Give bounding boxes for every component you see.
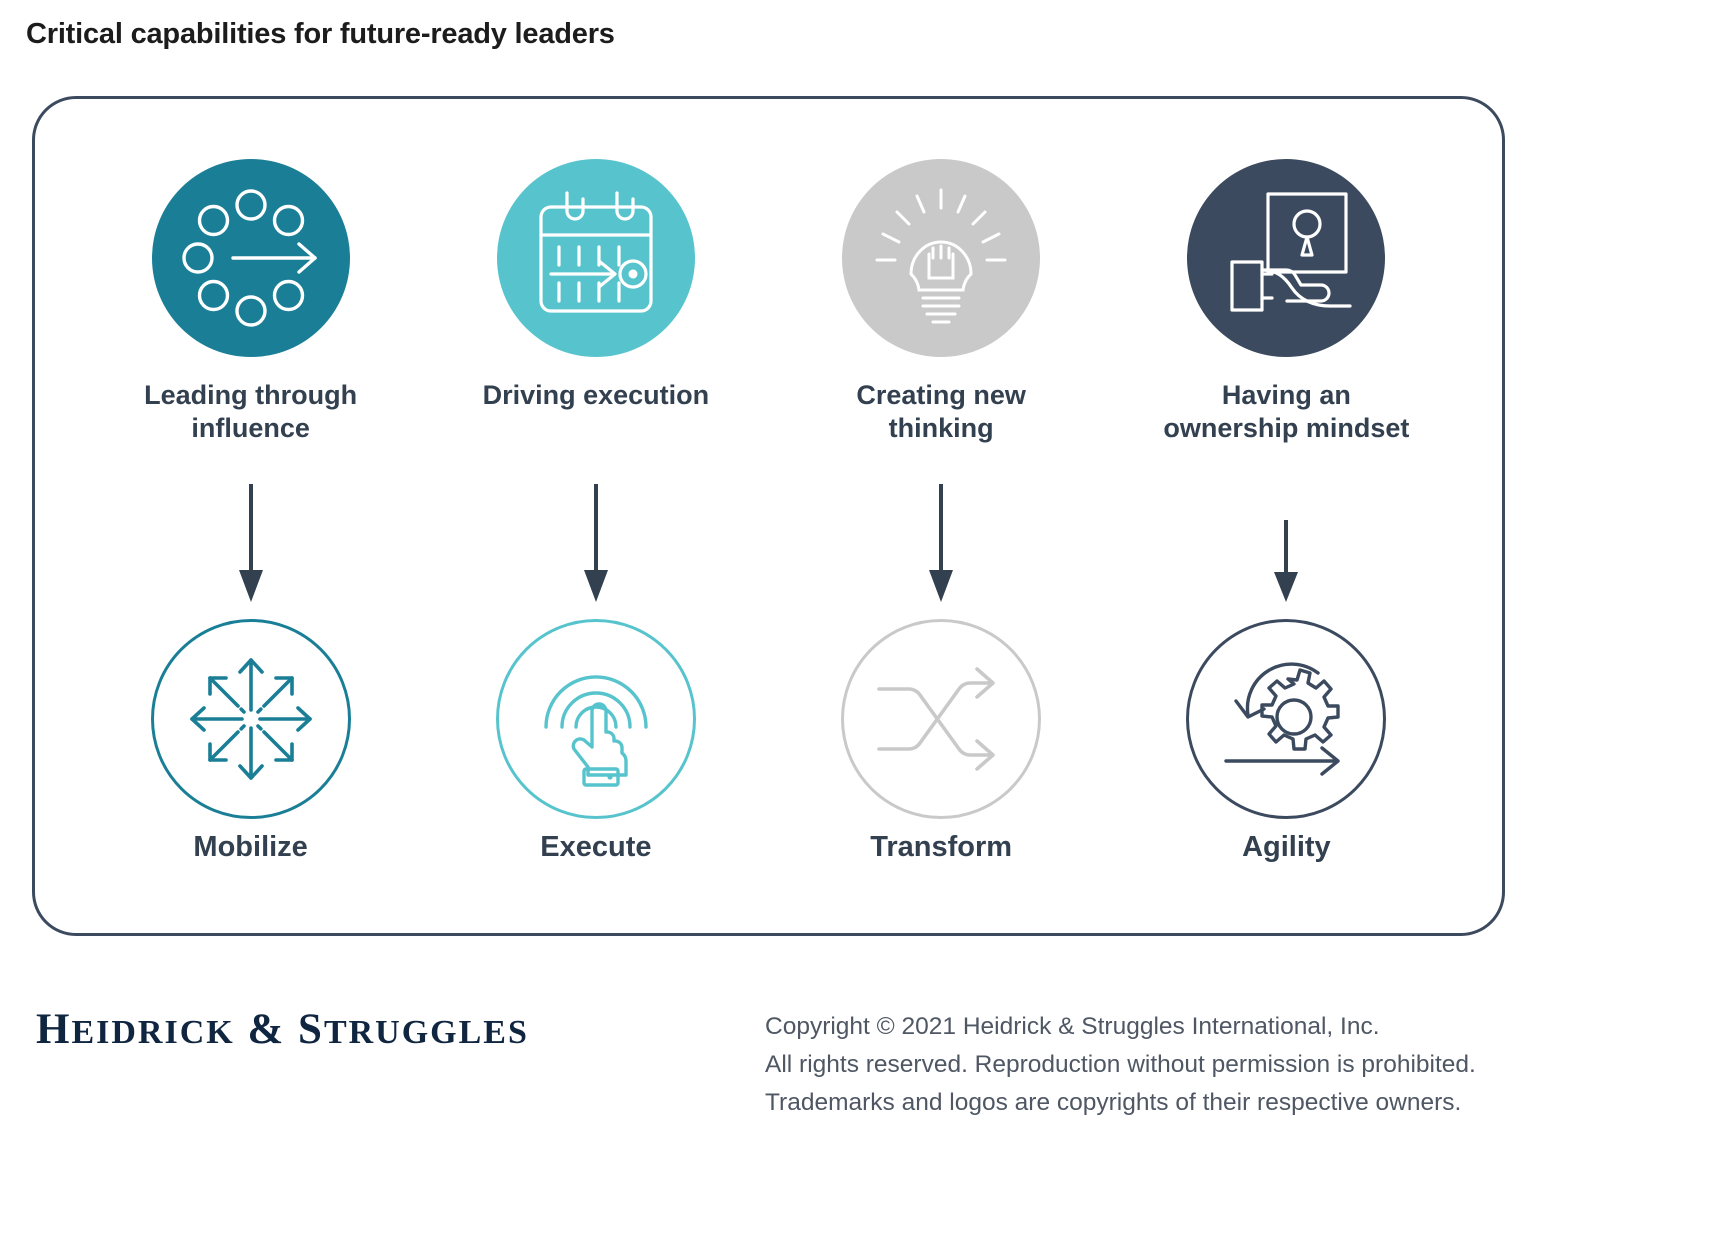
expand-arrows-icon	[182, 650, 320, 788]
capability-label-having-an-ownership-mindset: Having an ownership mindset	[1156, 379, 1416, 445]
copyright-line-2: All rights reserved. Reproduction withou…	[765, 1046, 1476, 1084]
column-creating-new-thinking: Creating new thinking Transform	[769, 96, 1114, 936]
connector-arrow-2	[576, 484, 616, 604]
logo-truggles: TRUGGLES	[324, 1014, 529, 1051]
outcome-circle-transform	[841, 619, 1041, 819]
page-title: Critical capabilities for future-ready l…	[26, 18, 615, 51]
connector-arrow-1	[231, 484, 271, 604]
logo-eidrick: EIDRICK	[71, 1014, 234, 1051]
column-having-an-ownership-mindset: Having an ownership mindset	[1114, 96, 1459, 936]
outcome-circle-agility	[1186, 619, 1386, 819]
capability-label-driving-execution: Driving execution	[466, 379, 726, 412]
capability-columns: Leading through influence	[32, 96, 1505, 936]
capability-circle-having-an-ownership-mindset	[1187, 159, 1385, 357]
outcome-label-transform: Transform	[870, 831, 1012, 864]
copyright-line-3: Trademarks and logos are copyrights of t…	[765, 1084, 1476, 1122]
connector-arrow-4	[1266, 520, 1306, 604]
outcome-label-execute: Execute	[540, 831, 651, 864]
copyright-line-1: Copyright © 2021 Heidrick & Struggles In…	[765, 1008, 1476, 1046]
capability-circle-driving-execution	[497, 159, 695, 357]
logo-s: S	[298, 1006, 324, 1053]
outcome-circle-mobilize	[151, 619, 351, 819]
calendar-target-icon	[527, 189, 665, 327]
copyright-block: Copyright © 2021 Heidrick & Struggles In…	[765, 1008, 1476, 1123]
capability-circle-creating-new-thinking	[842, 159, 1040, 357]
network-arrow-icon	[181, 188, 321, 328]
outcome-circle-execute	[496, 619, 696, 819]
gear-refresh-icon	[1214, 649, 1358, 789]
outcome-label-mobilize: Mobilize	[193, 831, 307, 864]
hand-tap-icon	[526, 649, 666, 789]
capability-label-creating-new-thinking: Creating new thinking	[811, 379, 1071, 445]
outcome-label-agility: Agility	[1242, 831, 1331, 864]
logo-h: H	[36, 1006, 71, 1053]
connector-arrow-3	[921, 484, 961, 604]
shuffle-arrows-icon	[871, 659, 1011, 779]
hand-holding-key-icon	[1216, 188, 1356, 328]
heidrick-struggles-logo: HEIDRICK & STRUGGLES	[36, 1005, 529, 1054]
capability-label-leading-through-influence: Leading through influence	[121, 379, 381, 445]
capability-circle-leading-through-influence	[152, 159, 350, 357]
column-leading-through-influence: Leading through influence	[78, 96, 423, 936]
lightbulb-icon	[871, 188, 1011, 328]
logo-ampersand: &	[247, 1006, 285, 1053]
column-driving-execution: Driving execution Execute	[423, 96, 768, 936]
